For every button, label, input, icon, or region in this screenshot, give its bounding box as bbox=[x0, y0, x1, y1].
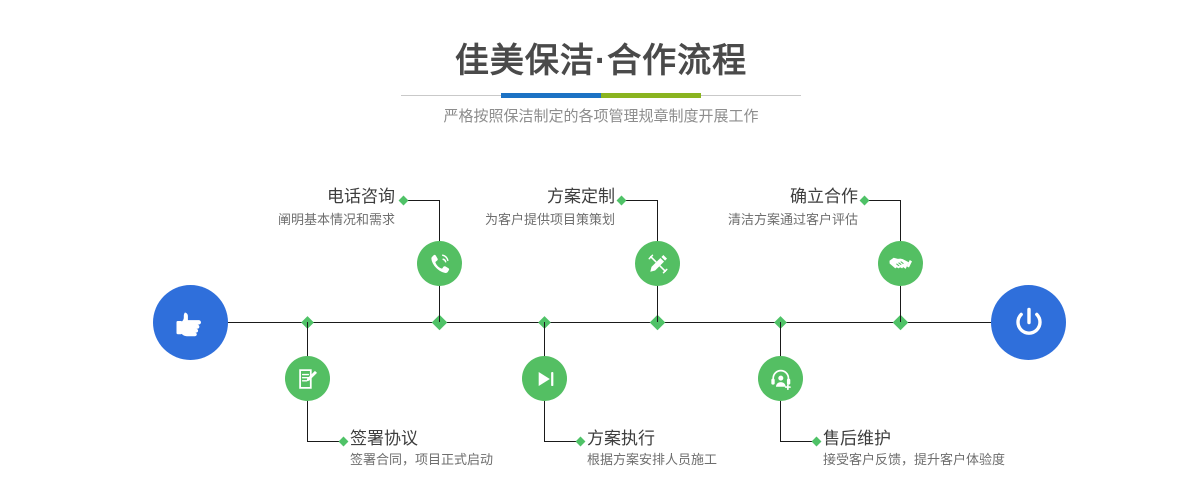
step-node-4[interactable] bbox=[522, 356, 567, 401]
play-execute-icon bbox=[532, 366, 558, 392]
pointing-hand-icon bbox=[171, 303, 211, 343]
step-node-5[interactable] bbox=[878, 241, 923, 286]
process-flow-infographic: 佳美保洁·合作流程 严格按照保洁制定的各项管理规章制度开展工作 bbox=[0, 0, 1202, 502]
timeline-start-node[interactable] bbox=[153, 285, 228, 360]
connector-leader-step-5 bbox=[867, 200, 901, 201]
power-icon bbox=[1008, 302, 1050, 344]
step-label-5: 确立合作 清洁方案通过客户评估 bbox=[615, 186, 858, 230]
timeline: 电话咨询 阐明基本情况和需求 签署协议 签署合同，项目正式启动 bbox=[0, 0, 1202, 502]
step-title-1: 电话咨询 bbox=[150, 186, 395, 208]
step-node-2[interactable] bbox=[285, 356, 330, 401]
step-title-6: 售后维护 bbox=[823, 428, 1123, 450]
step-node-3[interactable] bbox=[635, 241, 680, 286]
step-desc-1: 阐明基本情况和需求 bbox=[150, 210, 395, 230]
pencil-ruler-icon bbox=[645, 251, 671, 277]
step-desc-2: 签署合同，项目正式启动 bbox=[350, 450, 610, 470]
step-label-6: 售后维护 接受客户反馈，提升客户体验度 bbox=[823, 428, 1123, 470]
step-desc-3: 为客户提供项目策策划 bbox=[370, 210, 615, 230]
step-desc-6: 接受客户反馈，提升客户体验度 bbox=[823, 450, 1123, 470]
handshake-icon bbox=[887, 250, 914, 277]
step-title-4: 方案执行 bbox=[587, 428, 847, 450]
sign-document-icon bbox=[295, 366, 321, 392]
step-desc-4: 根据方案安排人员施工 bbox=[587, 450, 847, 470]
step-title-3: 方案定制 bbox=[370, 186, 615, 208]
step-node-6[interactable] bbox=[758, 356, 803, 401]
leader-tip-step-5 bbox=[860, 196, 870, 206]
step-label-3: 方案定制 为客户提供项目策策划 bbox=[370, 186, 615, 230]
timeline-end-node[interactable] bbox=[991, 285, 1066, 360]
customer-support-icon bbox=[768, 366, 794, 392]
step-label-2: 签署协议 签署合同，项目正式启动 bbox=[350, 428, 610, 470]
step-title-5: 确立合作 bbox=[615, 186, 858, 208]
step-desc-5: 清洁方案通过客户评估 bbox=[615, 210, 858, 230]
leader-tip-step-2 bbox=[339, 437, 349, 447]
step-label-1: 电话咨询 阐明基本情况和需求 bbox=[150, 186, 395, 230]
step-node-1[interactable] bbox=[417, 241, 462, 286]
step-title-2: 签署协议 bbox=[350, 428, 610, 450]
phone-call-icon bbox=[426, 250, 453, 277]
step-label-4: 方案执行 根据方案安排人员施工 bbox=[587, 428, 847, 470]
